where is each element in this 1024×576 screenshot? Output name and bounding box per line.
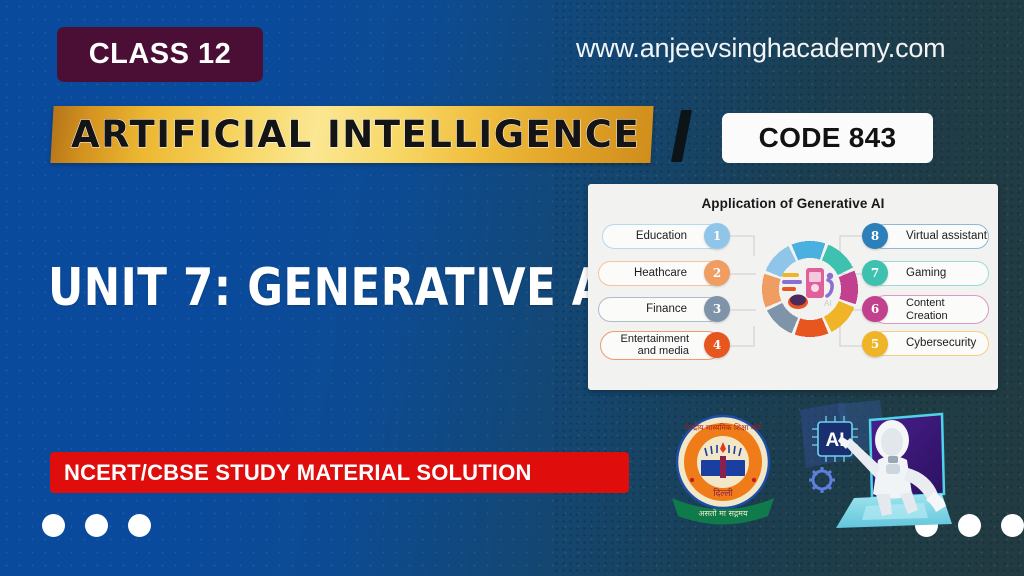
list-item-label: Heathcare — [634, 267, 687, 279]
list-item-number: 2 — [704, 260, 730, 286]
ai-chip-icon: AI — [812, 416, 858, 462]
bottom-banner: NCERT/CBSE STUDY MATERIAL SOLUTION — [50, 452, 629, 493]
cbse-board-logo: दिल्ली असतो मा सद्गमय केन्द्रीय माध्यमिक… — [662, 408, 784, 530]
list-item-number: 6 — [862, 296, 888, 322]
svg-text:असतो मा सद्गमय: असतो मा सद्गमय — [698, 508, 748, 518]
svg-text:AI: AI — [824, 299, 832, 308]
list-item-label: Content Creation — [906, 297, 988, 321]
website-url: www.anjeevsinghacademy.com — [576, 33, 945, 64]
promo-banner: CLASS 12 www.anjeevsinghacademy.com ARTI… — [0, 0, 1024, 576]
list-item-number: 1 — [704, 223, 730, 249]
list-item[interactable]: Cybersecurity — [871, 331, 989, 356]
subject-banner: ARTIFICIAL INTELLIGENCE — [50, 106, 653, 163]
generative-ai-center-icon: AI — [778, 264, 842, 314]
gear-icon — [809, 467, 835, 493]
dot — [958, 514, 981, 537]
code-badge-label: CODE 843 — [759, 122, 897, 154]
list-item-label: Gaming — [906, 267, 946, 279]
dot — [1001, 514, 1024, 537]
svg-text:केन्द्रीय माध्यमिक शिक्षा बोर्: केन्द्रीय माध्यमिक शिक्षा बोर्ड — [685, 423, 762, 432]
page-title: UNIT 7: GENERATIVE AI — [48, 258, 623, 318]
slash-divider-icon — [671, 110, 692, 162]
list-item-label: Virtual assistant — [906, 230, 987, 242]
list-item-label: Entertainment and media — [601, 334, 689, 357]
list-item-label: Education — [636, 230, 687, 242]
list-item-number: 7 — [862, 260, 888, 286]
decorative-dots-left — [42, 514, 151, 537]
bottom-banner-label: NCERT/CBSE STUDY MATERIAL SOLUTION — [64, 460, 532, 486]
subject-banner-label: ARTIFICIAL INTELLIGENCE — [71, 113, 640, 156]
list-item-label: Cybersecurity — [906, 337, 976, 349]
list-item[interactable]: Content Creation — [871, 295, 989, 324]
list-item-label: Finance — [646, 303, 687, 315]
list-item[interactable]: Gaming — [871, 261, 989, 286]
class-badge-label: CLASS 12 — [89, 38, 232, 71]
svg-text:दिल्ली: दिल्ली — [713, 487, 733, 499]
list-item-number: 4 — [704, 332, 730, 358]
donut-center: AI — [760, 239, 860, 339]
list-item[interactable]: Virtual assistant — [871, 224, 989, 249]
infographic-card: Application of Generative AI — [588, 184, 998, 390]
dot — [85, 514, 108, 537]
dot — [128, 514, 151, 537]
code-badge: CODE 843 — [722, 113, 933, 163]
dot — [42, 514, 65, 537]
robot-from-laptop-illustration: AI — [792, 398, 952, 538]
list-item-number: 8 — [862, 223, 888, 249]
class-badge: CLASS 12 — [57, 27, 263, 82]
list-item-number: 3 — [704, 296, 730, 322]
list-item-number: 5 — [862, 331, 888, 357]
